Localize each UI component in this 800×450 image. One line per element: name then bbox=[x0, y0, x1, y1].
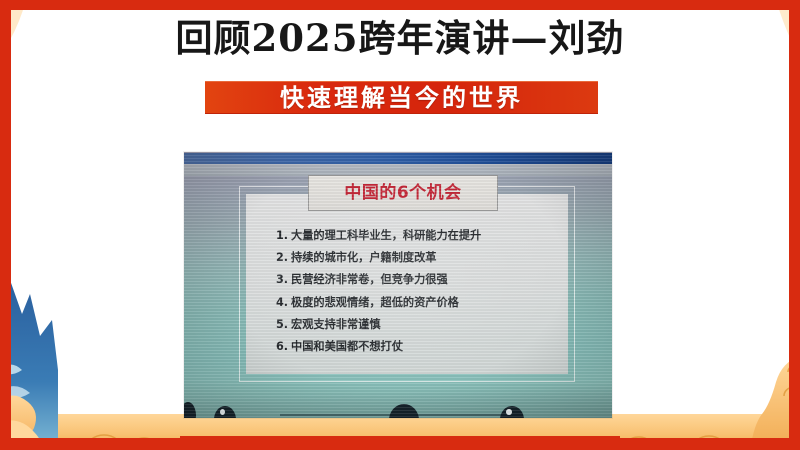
highlight-glint bbox=[506, 409, 511, 415]
list-item: 6.中国和美国都不想打仗 bbox=[276, 341, 566, 352]
slide-header-text: 中国的6个机会 bbox=[344, 185, 461, 202]
list-item-text: 持续的城市化，户籍制度改革 bbox=[291, 251, 436, 264]
slide-top-blue-band bbox=[184, 153, 612, 164]
slide-bullet-list: 1.大量的理工科毕业生，科研能力在提升 2.持续的城市化，户籍制度改革 3.民营… bbox=[276, 230, 566, 363]
list-item-text: 中国和美国都不想打仗 bbox=[291, 340, 403, 353]
list-item-number: 6. bbox=[276, 340, 288, 353]
audience-silhouette bbox=[184, 402, 196, 418]
list-item-number: 5. bbox=[276, 318, 288, 331]
frame-border-left bbox=[0, 0, 11, 450]
slide-header-box: 中国的6个机会 bbox=[308, 175, 498, 211]
page-title: 回顾2025跨年演讲—刘劲 bbox=[0, 16, 800, 61]
list-item: 2.持续的城市化，户籍制度改革 bbox=[276, 252, 566, 263]
list-item-text: 极度的悲观情绪，超低的资产价格 bbox=[291, 296, 459, 309]
frame-border-right bbox=[789, 0, 800, 450]
list-item-number: 4. bbox=[276, 296, 288, 309]
list-item-number: 3. bbox=[276, 273, 288, 286]
list-item-number: 2. bbox=[276, 251, 288, 264]
list-item-text: 大量的理工科毕业生，科研能力在提升 bbox=[291, 229, 481, 242]
list-item-text: 民营经济非常卷，但竞争力很强 bbox=[291, 273, 448, 286]
list-item: 1.大量的理工科毕业生，科研能力在提升 bbox=[276, 230, 566, 241]
frame-border-bottom bbox=[0, 438, 800, 450]
highlight-glint bbox=[220, 409, 225, 415]
list-item: 3.民营经济非常卷，但竞争力很强 bbox=[276, 274, 566, 285]
subtitle-banner: 快速理解当今的世界 bbox=[205, 81, 598, 114]
audience-silhouette bbox=[500, 406, 524, 418]
audience-silhouette bbox=[214, 406, 236, 418]
poster-canvas: 回顾2025跨年演讲—刘劲 快速理解当今的世界 中国的6个机会 1.大量的理工科… bbox=[0, 0, 800, 450]
list-item-number: 1. bbox=[276, 229, 288, 242]
list-item-text: 宏观支持非常谨慎 bbox=[291, 318, 381, 331]
list-item: 5.宏观支持非常谨慎 bbox=[276, 319, 566, 330]
slide-photo: 中国的6个机会 1.大量的理工科毕业生，科研能力在提升 2.持续的城市化，户籍制… bbox=[184, 152, 612, 418]
frame-border-top bbox=[0, 0, 800, 10]
audience-silhouette bbox=[389, 404, 419, 418]
list-item: 4.极度的悲观情绪，超低的资产价格 bbox=[276, 297, 566, 308]
subtitle-text: 快速理解当今的世界 bbox=[280, 86, 523, 110]
